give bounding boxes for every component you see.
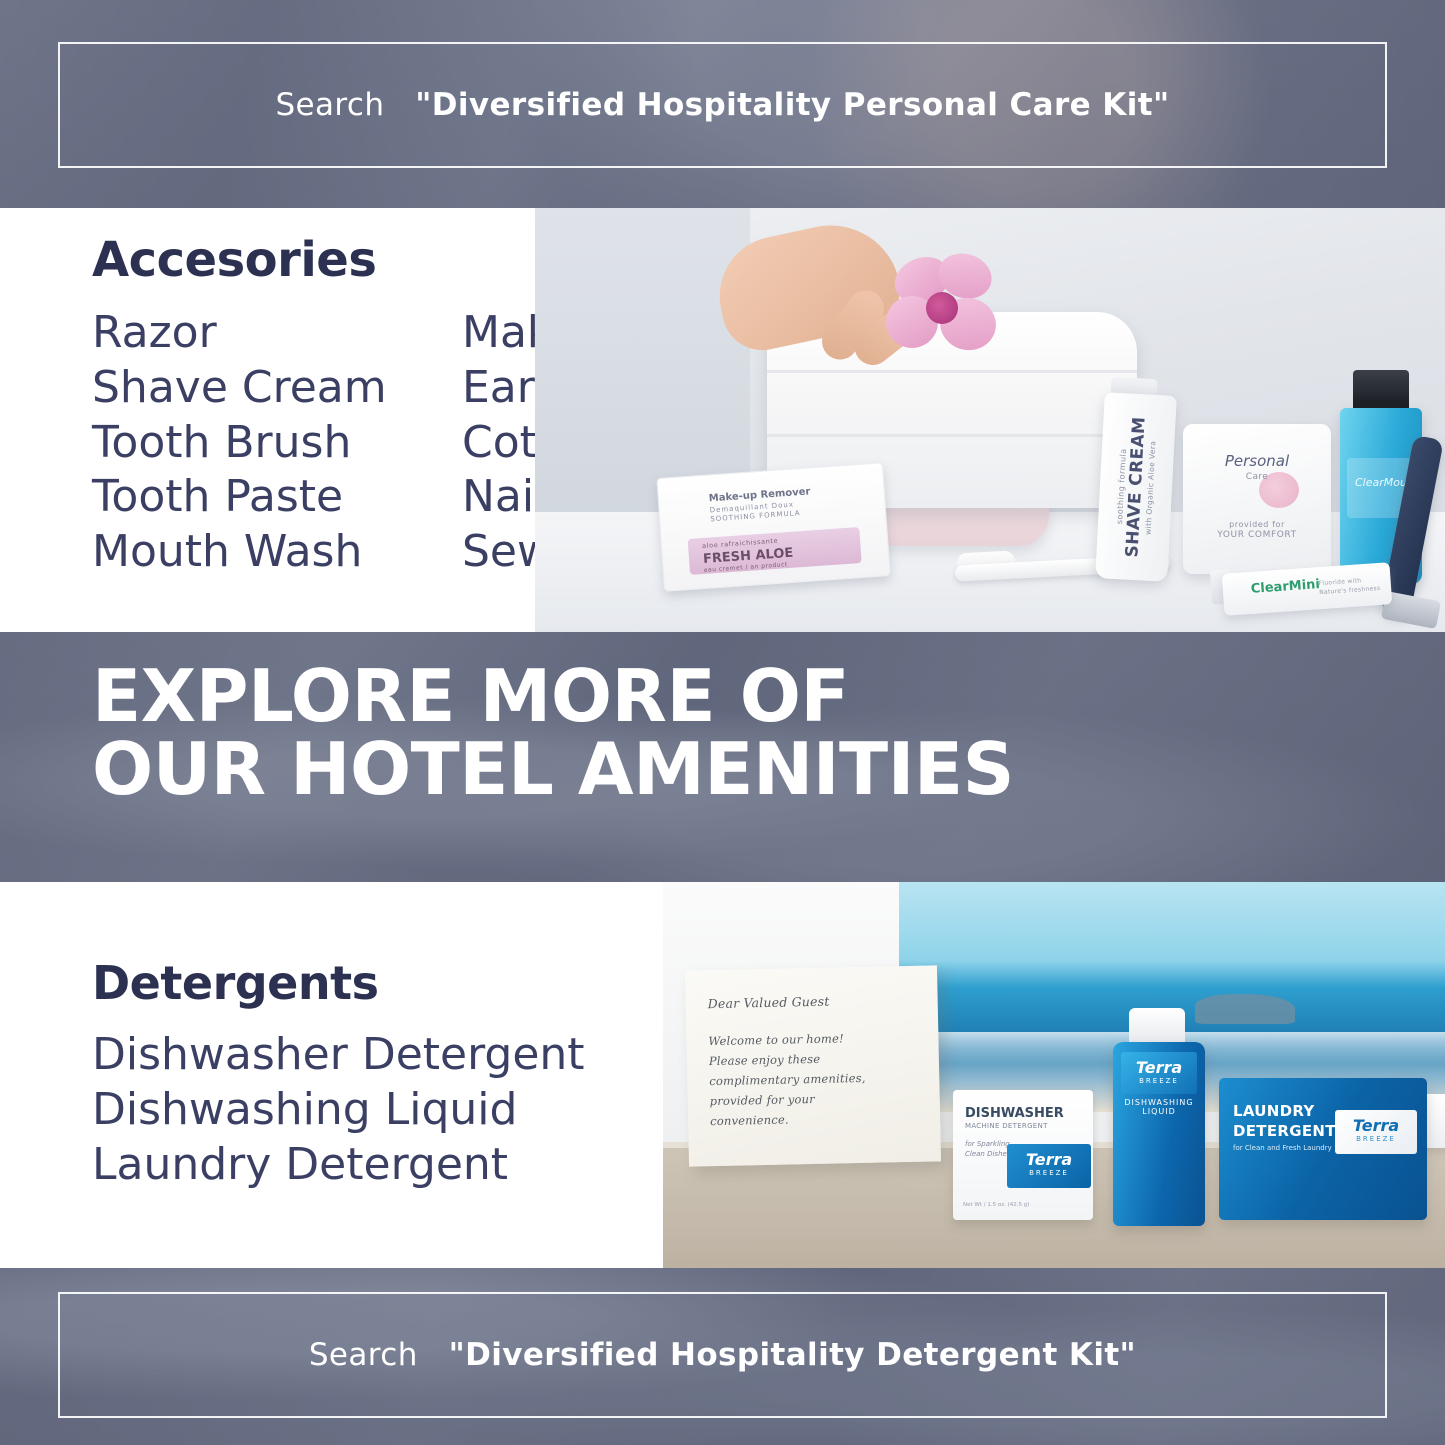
list-item: Dishwasher Detergent xyxy=(92,1028,585,1083)
makeup-remover-name: Make-up Remover xyxy=(709,486,811,504)
dishwasher-desc-1: for Sparkling xyxy=(965,1140,1010,1148)
tent-card-greeting: Dear Valued Guest xyxy=(708,994,830,1012)
detergents-title: Detergents xyxy=(92,956,379,1010)
accessories-title: Accesories xyxy=(92,232,376,288)
soap-name-line1: Personal xyxy=(1187,452,1327,470)
laundry-line-2: DETERGENT xyxy=(1233,1122,1336,1140)
search-top-query-label: "Diversified Hospitality Personal Care K… xyxy=(415,87,1169,123)
soap-name-line2: Care xyxy=(1187,472,1327,482)
dishwasher-desc-2: Clean Dishes xyxy=(965,1150,1010,1158)
search-top-lead-label: Search xyxy=(275,87,384,123)
personal-care-kit-photo: Make-up Remover Demaquillant Doux SOOTHI… xyxy=(535,208,1445,632)
list-item: Laundry Detergent xyxy=(92,1138,585,1193)
promo-image: Search "Diversified Hospitality Personal… xyxy=(0,0,1445,1445)
explore-headline-line-1: EXPLORE MORE OF xyxy=(92,660,1092,733)
dishwasher-size: Net Wt / 1.5 oz. (42.5 g) xyxy=(963,1202,1029,1208)
laundry-desc: for Clean and Fresh Laundry xyxy=(1233,1144,1332,1152)
dishwasher-name: DISHWASHER xyxy=(965,1106,1064,1121)
dishwasher-subtitle: MACHINE DETERGENT xyxy=(965,1122,1048,1130)
welcome-tent-card: Dear Valued Guest Welcome to our home! P… xyxy=(685,965,941,1166)
laundry-line-1: LAUNDRY xyxy=(1233,1102,1315,1120)
list-item: Tooth Brush xyxy=(92,416,387,471)
accessories-list-column-1: Razor Shave Cream Tooth Brush Tooth Past… xyxy=(92,306,387,580)
tent-card-line-5: convenience. xyxy=(710,1113,789,1129)
terra-brand-name: Terra xyxy=(1335,1116,1417,1135)
search-bottom-query-label: "Diversified Hospitality Detergent Kit" xyxy=(449,1337,1137,1373)
terra-brand-sub: BREEZE xyxy=(1007,1169,1091,1177)
makeup-remover-sachet: Make-up Remover Demaquillant Doux SOOTHI… xyxy=(656,462,890,592)
search-banner-top: Search "Diversified Hospitality Personal… xyxy=(58,42,1387,168)
dishwashing-liquid-cap xyxy=(1129,1008,1185,1046)
shave-cream-tube: soothing formula SHAVE CREAM with Organi… xyxy=(1095,392,1177,582)
list-item: Mouth Wash xyxy=(92,525,387,580)
flower-core xyxy=(926,292,958,324)
terra-brand-sub: BREEZE xyxy=(1335,1135,1417,1143)
shave-cream-label: soothing formula SHAVE CREAM with Organi… xyxy=(1113,416,1158,559)
list-item: Razor xyxy=(92,306,387,361)
terra-breeze-logo: Terra BREEZE xyxy=(1007,1144,1091,1188)
rock xyxy=(1195,994,1295,1024)
explore-headline-line-2: OUR HOTEL AMENITIES xyxy=(92,733,1092,806)
detergents-list: Dishwasher Detergent Dishwashing Liquid … xyxy=(92,1028,585,1192)
detergent-kit-photo: Dear Valued Guest Welcome to our home! P… xyxy=(663,882,1445,1268)
search-bottom-lead-label: Search xyxy=(309,1337,418,1373)
terra-breeze-logo: Terra BREEZE xyxy=(1335,1110,1417,1154)
search-banner-bottom-text: Search "Diversified Hospitality Detergen… xyxy=(309,1337,1136,1373)
terra-brand-sub: BREEZE xyxy=(1121,1077,1197,1085)
dishwashing-liquid-line-1: DISHWASHING xyxy=(1119,1098,1199,1107)
toothpaste-desc-2: Nature's freshness xyxy=(1319,585,1381,596)
personal-care-soap-box: Personal Care provided for YOUR COMFORT xyxy=(1183,424,1331,574)
tent-card-line-2: Please enjoy these xyxy=(709,1052,821,1068)
mouthwash-cap xyxy=(1353,370,1409,412)
list-item: Dishwashing Liquid xyxy=(92,1083,585,1138)
terra-breeze-logo: Terra BREEZE xyxy=(1121,1052,1197,1094)
toothpaste-brand: ClearMini xyxy=(1250,577,1320,597)
tent-card-line-4: provided for your xyxy=(710,1092,815,1108)
tent-card-line-3: complimentary amenities, xyxy=(709,1071,866,1088)
dishwashing-liquid-line-2: LIQUID xyxy=(1119,1107,1199,1116)
search-banner-top-text: Search "Diversified Hospitality Personal… xyxy=(275,87,1169,123)
terra-brand-name: Terra xyxy=(1007,1150,1091,1169)
orchid-flower xyxy=(882,252,1002,362)
list-item: Shave Cream xyxy=(92,361,387,416)
soap-provided-label: provided for xyxy=(1187,520,1327,529)
explore-headline: EXPLORE MORE OF OUR HOTEL AMENITIES xyxy=(92,660,1092,807)
search-banner-bottom: Search "Diversified Hospitality Detergen… xyxy=(58,1292,1387,1418)
tent-card-line-1: Welcome to our home! xyxy=(708,1031,844,1048)
soap-comfort-label: YOUR COMFORT xyxy=(1187,530,1327,540)
terra-brand-name: Terra xyxy=(1121,1058,1197,1077)
list-item: Tooth Paste xyxy=(92,470,387,525)
dishwashing-liquid-label: DISHWASHING LIQUID xyxy=(1119,1098,1199,1116)
